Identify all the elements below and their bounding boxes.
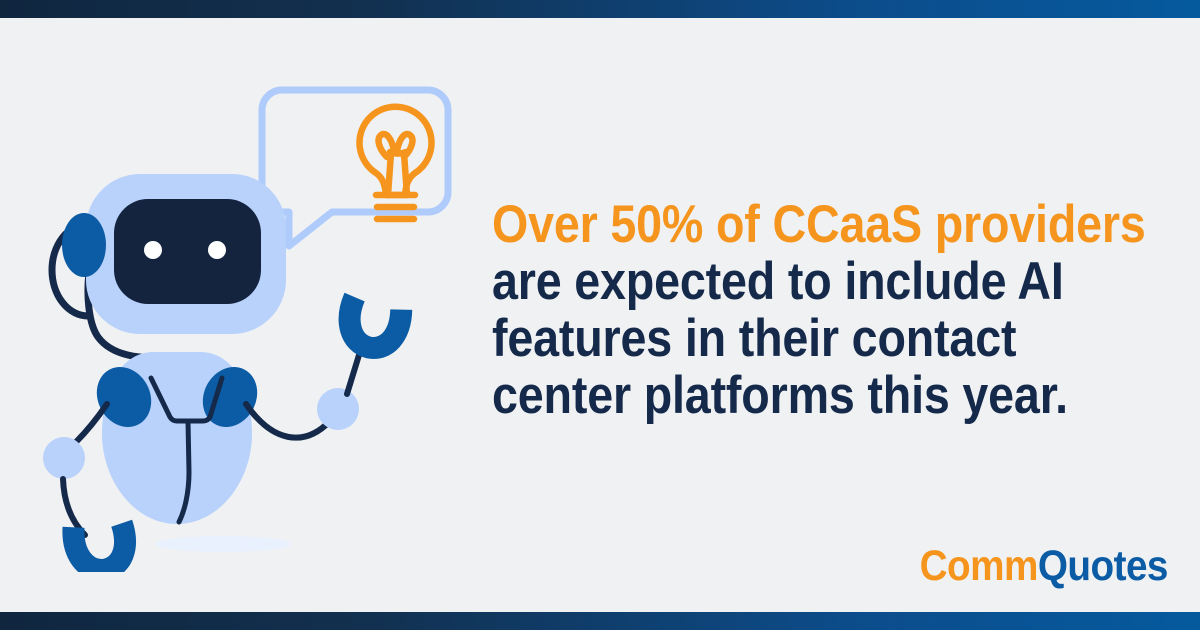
magnet-hand-right-shape bbox=[346, 297, 403, 352]
stat-card: Over 50% of CCaaS providers are expected… bbox=[0, 0, 1200, 630]
robot-illustration bbox=[38, 52, 478, 572]
robot-eye-right bbox=[208, 241, 226, 259]
logo-text-comm: Comm bbox=[920, 542, 1038, 590]
robot-eye-left bbox=[144, 241, 162, 259]
elbow-left bbox=[43, 437, 85, 479]
ground-shadow bbox=[155, 536, 291, 552]
bottom-accent-bar bbox=[0, 612, 1200, 630]
commquotes-logo: CommQuotes bbox=[920, 545, 1168, 588]
headline-line-1: Over 50% of CCaaS providers bbox=[492, 196, 1073, 253]
headline: Over 50% of CCaaS providers are expected… bbox=[492, 196, 1152, 424]
headline-line-2: are expected to include AI bbox=[492, 253, 1073, 310]
logo-text-quotes: Quotes bbox=[1038, 542, 1168, 590]
top-accent-bar bbox=[0, 0, 1200, 18]
elbow-right bbox=[317, 388, 359, 430]
headset-earcup bbox=[62, 213, 106, 277]
headline-line-4: center platforms this year. bbox=[492, 367, 1073, 424]
robot-face-screen bbox=[114, 199, 261, 304]
lightbulb-icon bbox=[360, 107, 432, 219]
headline-line-3: features in their contact bbox=[492, 310, 1073, 367]
forearm-left bbox=[63, 479, 85, 535]
